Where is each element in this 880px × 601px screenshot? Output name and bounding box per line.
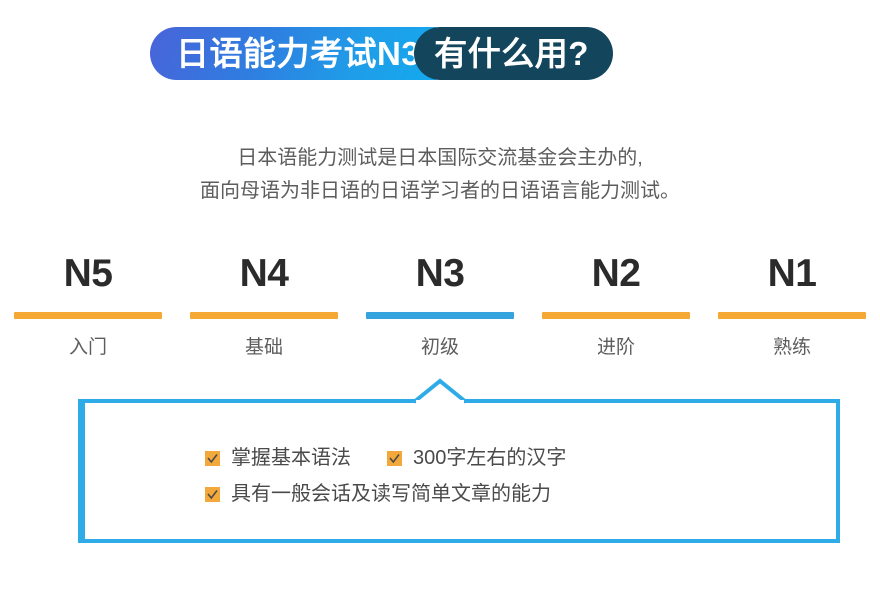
level-name: 熟练 <box>773 338 811 357</box>
check-icon <box>205 451 220 466</box>
level-code: N1 <box>768 254 817 293</box>
intro-line-1: 日本语能力测试是日本国际交流基金会主办的, <box>0 142 880 175</box>
intro-paragraph: 日本语能力测试是日本国际交流基金会主办的, 面向母语为非日语的日语学习者的日语语… <box>0 142 880 208</box>
level-item-n1: N1 熟练 <box>704 254 880 357</box>
level-item-n4: N4 基础 <box>176 254 352 357</box>
level-name: 初级 <box>421 338 459 357</box>
intro-line-2: 面向母语为非日语的日语学习者的日语语言能力测试。 <box>0 175 880 208</box>
level-bar-highlighted <box>366 312 514 319</box>
skill-text: 掌握基本语法 <box>231 448 351 468</box>
level-bar <box>190 312 338 319</box>
level-item-n3: N3 初级 <box>352 254 528 357</box>
level-scale: N5 入门 N4 基础 N3 初级 N2 进阶 N1 熟练 <box>0 254 880 357</box>
n3-skill-list: 掌握基本语法 300字左右的汉字 具有一般会话及读写简单文章的能力 <box>205 440 805 512</box>
level-code: N5 <box>64 254 113 293</box>
callout-pointer-icon <box>412 378 472 404</box>
skill-text: 具有一般会话及读写简单文章的能力 <box>231 484 551 504</box>
title-banner: 日语能力考试N3 有什么用? <box>150 27 613 80</box>
check-icon <box>205 487 220 502</box>
level-bar <box>718 312 866 319</box>
level-code: N4 <box>240 254 289 293</box>
banner-title-main: 日语能力考试N3 <box>150 27 436 80</box>
level-code: N2 <box>592 254 641 293</box>
level-name: 入门 <box>69 338 107 357</box>
skill-row: 具有一般会话及读写简单文章的能力 <box>205 476 805 512</box>
level-item-n2: N2 进阶 <box>528 254 704 357</box>
skill-row: 掌握基本语法 300字左右的汉字 <box>205 440 805 476</box>
check-icon <box>387 451 402 466</box>
banner-title-accent: 有什么用? <box>414 27 613 80</box>
level-item-n5: N5 入门 <box>0 254 176 357</box>
level-bar <box>542 312 690 319</box>
level-name: 基础 <box>245 338 283 357</box>
level-bar <box>14 312 162 319</box>
level-name: 进阶 <box>597 338 635 357</box>
level-code: N3 <box>416 254 465 293</box>
skill-text: 300字左右的汉字 <box>413 448 566 468</box>
